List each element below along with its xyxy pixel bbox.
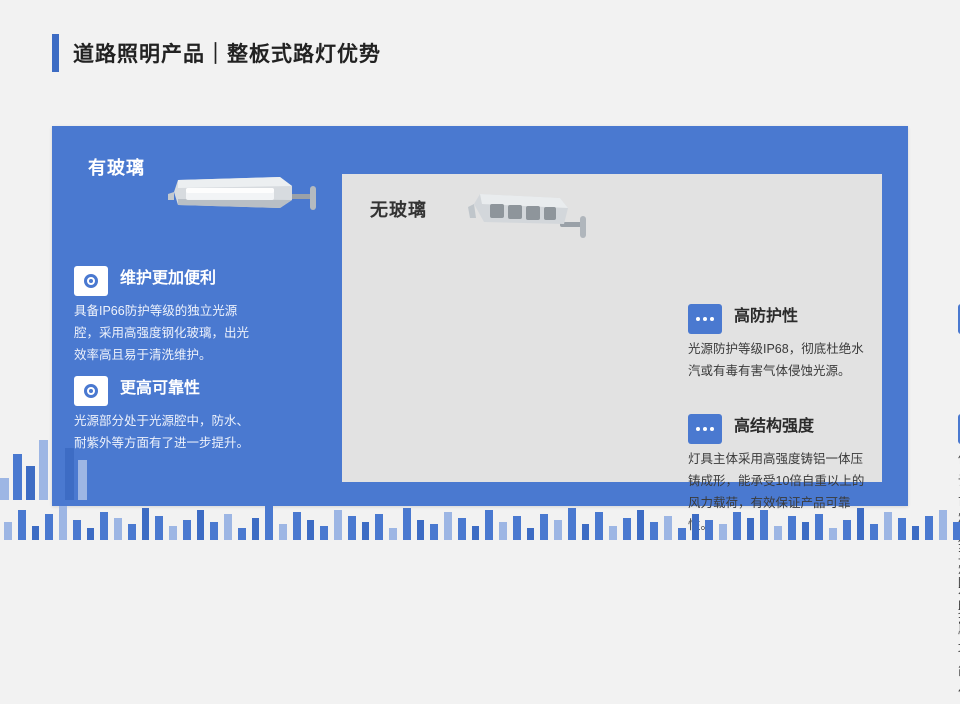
streetlight-no-glass-image: [464, 182, 592, 248]
decorative-bar: [32, 526, 40, 540]
decorative-bar: [458, 518, 466, 540]
decorative-bar: [692, 514, 700, 540]
decorative-bar: [39, 440, 48, 500]
decorative-bar: [898, 518, 906, 540]
ring-icon: [74, 376, 108, 406]
decorative-bar: [430, 524, 438, 540]
feature-title: 维护更加便利: [120, 264, 216, 294]
header-accent-bar: [52, 34, 59, 72]
decorative-bar: [4, 522, 12, 540]
decorative-bar: [348, 516, 356, 540]
feature-title: 高防护性: [734, 302, 798, 332]
feature-heading: 高结构强度: [688, 412, 873, 444]
decorative-bar: [733, 512, 741, 540]
decorative-bar: [472, 526, 480, 540]
decorative-bar: [637, 510, 645, 540]
feature-block: 维护更加便利 具备IP66防护等级的独立光源腔，采用高强度钢化玻璃，出光效率高且…: [74, 264, 259, 366]
decorative-bar: [802, 522, 810, 540]
feature-heading: 更高可靠性: [74, 374, 259, 406]
decorative-bar: [362, 522, 370, 540]
decorative-bar: [155, 516, 163, 540]
decorative-bar: [609, 526, 617, 540]
decorative-bar: [582, 524, 590, 540]
feature-body: 具备IP66防护等级的独立光源腔，采用高强度钢化玻璃，出光效率高且易于清洗维护。: [74, 300, 259, 366]
decorative-bar: [26, 466, 35, 500]
decorative-bar: [857, 508, 865, 540]
decorative-bar: [238, 528, 246, 540]
decorative-bar: [485, 510, 493, 540]
decorative-bar: [169, 526, 177, 540]
decorative-bar: [788, 516, 796, 540]
decorative-bar: [389, 528, 397, 540]
decorative-bar: [953, 522, 960, 540]
feature-body: 光源防护等级IP68，彻底杜绝水汽或有毒有害气体侵蚀光源。: [688, 338, 873, 382]
decorative-bar: [52, 472, 61, 500]
decorative-bar: [114, 518, 122, 540]
decorative-bars-bottom: [0, 504, 960, 540]
ring-icon: [74, 266, 108, 296]
no-glass-panel: 无玻璃 高防护性: [342, 174, 882, 482]
decorative-bar: [527, 528, 535, 540]
decorative-bar: [540, 514, 548, 540]
decorative-bar: [554, 520, 562, 540]
decorative-bar: [0, 478, 9, 500]
decorative-bar: [678, 528, 686, 540]
decorative-bar: [87, 528, 95, 540]
decorative-bar: [265, 506, 273, 540]
decorative-bar: [183, 520, 191, 540]
decorative-bar: [925, 516, 933, 540]
feature-body: 光源部分处于光源腔中，防水、耐紫外等方面有了进一步提升。: [74, 410, 259, 454]
decorative-bar: [320, 526, 328, 540]
left-column: 有玻璃 维护更加便利: [52, 126, 348, 506]
decorative-bar: [444, 512, 452, 540]
feature-heading: 维护更加便利: [74, 264, 259, 296]
decorative-bar: [513, 516, 521, 540]
page-title: 道路照明产品｜整板式路灯优势: [73, 38, 381, 68]
decorative-bar: [59, 506, 67, 540]
decorative-bar: [870, 524, 878, 540]
decorative-bar: [252, 518, 260, 540]
decorative-bar: [210, 522, 218, 540]
decorative-bar: [78, 460, 87, 500]
decorative-bar: [912, 526, 920, 540]
decorative-bar: [884, 512, 892, 540]
feature-title: 更高可靠性: [120, 374, 200, 404]
decorative-bar: [650, 522, 658, 540]
decorative-bar: [403, 508, 411, 540]
decorative-bar: [334, 510, 342, 540]
page-header: 道路照明产品｜整板式路灯优势: [52, 34, 381, 72]
decorative-bar: [664, 516, 672, 540]
decorative-bar: [142, 508, 150, 540]
decorative-bar: [843, 520, 851, 540]
content-card: 有玻璃 维护更加便利: [52, 126, 908, 506]
decorative-bar: [499, 522, 507, 540]
decorative-bar: [705, 520, 713, 540]
panel-title: 无玻璃: [370, 196, 427, 222]
decorative-bar: [939, 510, 947, 540]
decorative-bar: [65, 448, 74, 500]
decorative-bar: [279, 524, 287, 540]
decorative-bar: [595, 512, 603, 540]
feature-block: 高防护性 光源防护等级IP68，彻底杜绝水汽或有毒有害气体侵蚀光源。: [688, 302, 873, 382]
decorative-bars-left: [0, 440, 87, 500]
decorative-bar: [13, 454, 22, 500]
decorative-bar: [623, 518, 631, 540]
streetlight-with-glass-image: [160, 164, 320, 224]
decorative-bar: [45, 514, 53, 540]
decorative-bar: [760, 510, 768, 540]
decorative-bar: [18, 510, 26, 540]
decorative-bar: [128, 524, 136, 540]
feature-title: 高结构强度: [734, 412, 814, 442]
decorative-bar: [293, 512, 301, 540]
feature-block: 更高可靠性 光源部分处于光源腔中，防水、耐紫外等方面有了进一步提升。: [74, 374, 259, 454]
decorative-bar: [197, 510, 205, 540]
decorative-bar: [774, 526, 782, 540]
decorative-bar: [747, 518, 755, 540]
decorative-bar: [719, 524, 727, 540]
dots-icon: [688, 414, 722, 444]
feature-heading: 高防护性: [688, 302, 873, 334]
dots-icon: [688, 304, 722, 334]
decorative-bar: [829, 528, 837, 540]
decorative-bar: [815, 514, 823, 540]
decorative-bar: [417, 520, 425, 540]
decorative-bar: [568, 508, 576, 540]
left-column-title: 有玻璃: [88, 154, 145, 180]
decorative-bar: [307, 520, 315, 540]
decorative-bar: [73, 520, 81, 540]
decorative-bar: [100, 512, 108, 540]
decorative-bar: [224, 514, 232, 540]
decorative-bar: [375, 514, 383, 540]
